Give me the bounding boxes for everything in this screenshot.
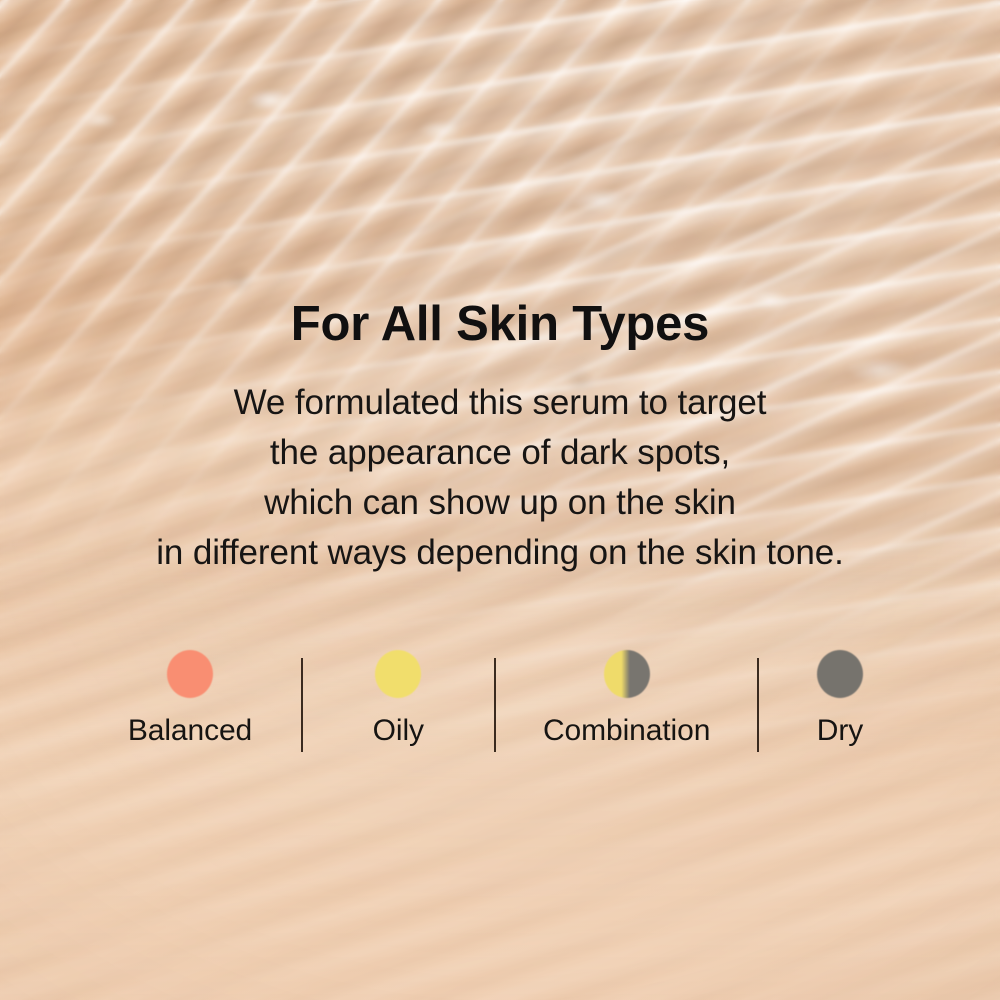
description-line: which can show up on the skin bbox=[0, 478, 1000, 528]
legend-divider bbox=[757, 658, 759, 752]
description-paragraph: We formulated this serum to target the a… bbox=[0, 378, 1000, 578]
legend-divider bbox=[494, 658, 496, 752]
description-line: We formulated this serum to target bbox=[0, 378, 1000, 428]
skin-type-oily: Oily bbox=[323, 650, 473, 746]
content-overlay: For All Skin Types We formulated this se… bbox=[0, 0, 1000, 1000]
combination-dot bbox=[604, 650, 650, 698]
skin-type-legend: Balanced Oily Combination Dry bbox=[100, 650, 900, 770]
legend-divider bbox=[301, 658, 303, 752]
skin-type-label: Dry bbox=[817, 716, 863, 746]
description-line: in different ways depending on the skin … bbox=[0, 528, 1000, 578]
skin-type-balanced: Balanced bbox=[100, 650, 280, 746]
skin-type-dry: Dry bbox=[780, 650, 900, 746]
dry-dot bbox=[817, 650, 863, 698]
description-line: the appearance of dark spots, bbox=[0, 428, 1000, 478]
skin-type-label: Oily bbox=[373, 716, 424, 746]
oily-dot bbox=[375, 650, 421, 698]
balanced-dot bbox=[167, 650, 213, 698]
page-title: For All Skin Types bbox=[0, 299, 1000, 351]
skin-type-label: Balanced bbox=[128, 716, 252, 746]
skin-type-combination: Combination bbox=[517, 650, 737, 746]
promo-graphic: For All Skin Types We formulated this se… bbox=[0, 0, 1000, 1000]
skin-type-label: Combination bbox=[543, 716, 710, 746]
